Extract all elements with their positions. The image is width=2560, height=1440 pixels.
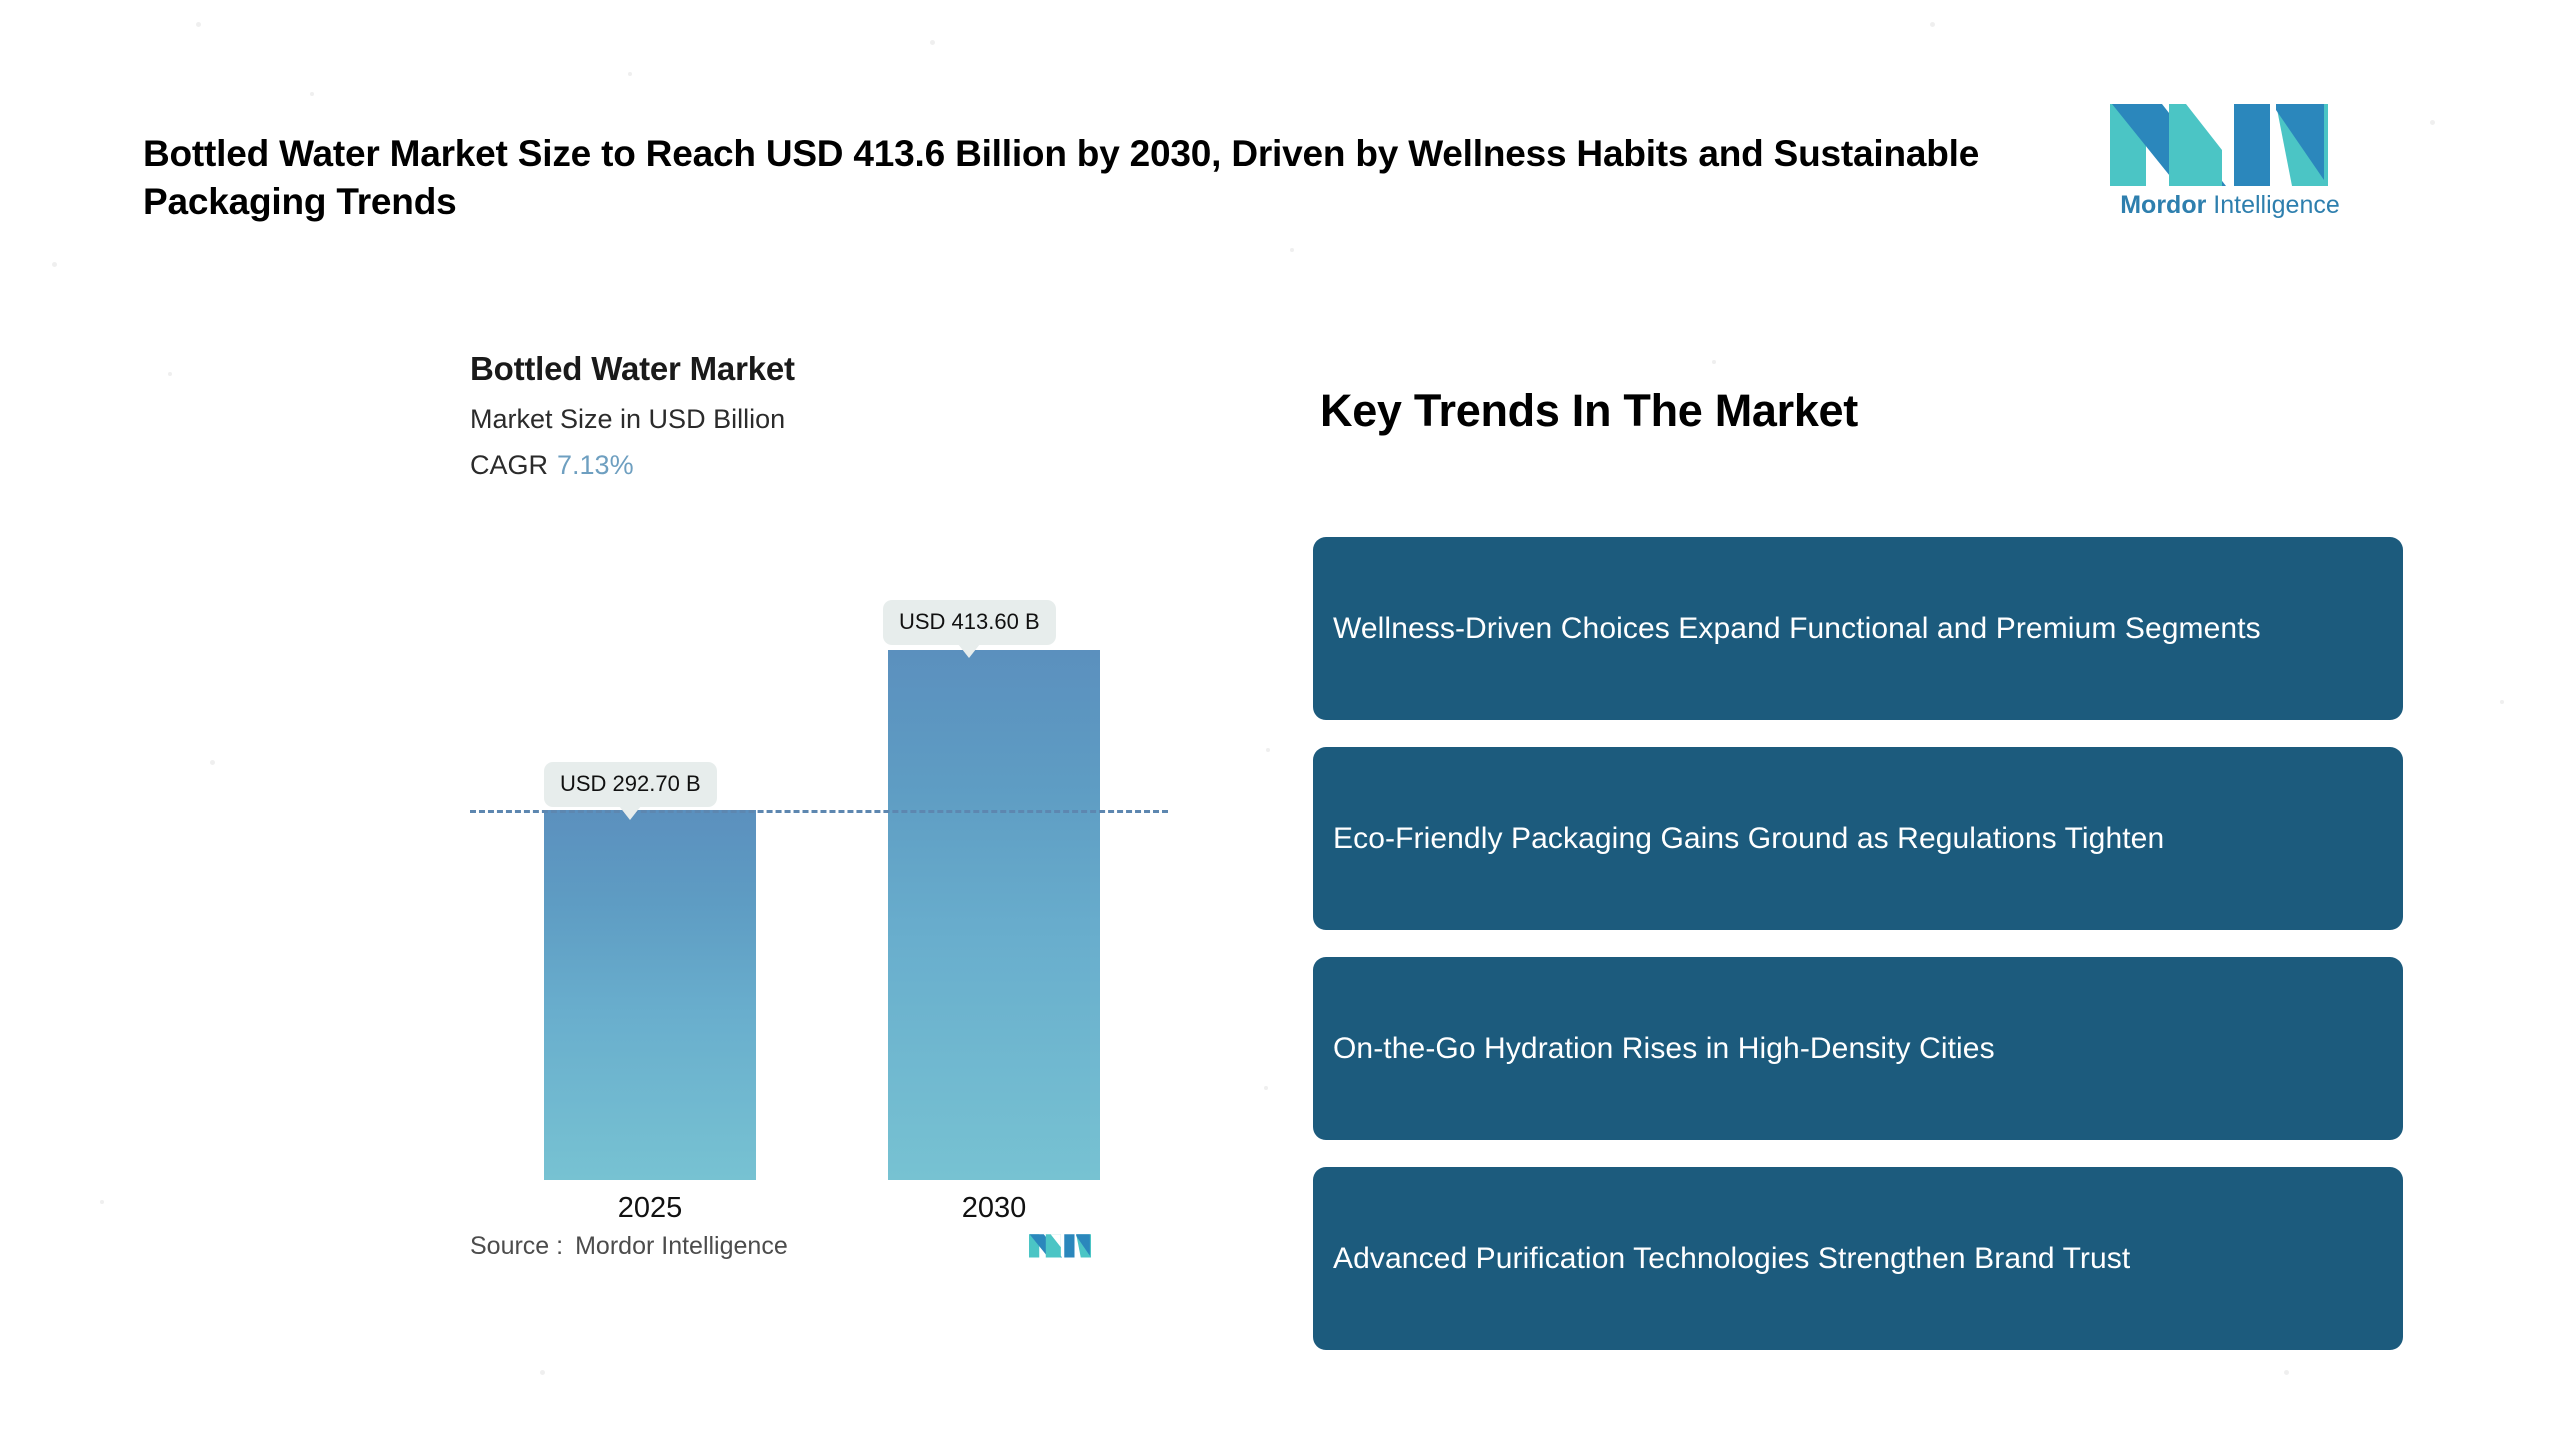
background-speckle xyxy=(1264,1086,1268,1090)
trend-card[interactable]: Wellness-Driven Choices Expand Functiona… xyxy=(1313,537,2403,720)
source-line: Source :Mordor Intelligence xyxy=(470,1232,788,1261)
trend-card-text: Wellness-Driven Choices Expand Functiona… xyxy=(1333,608,2261,649)
key-trends-panel: Key Trends In The Market Wellness-Driven… xyxy=(1300,0,2470,1440)
background-speckle xyxy=(1290,248,1294,252)
x-axis-tick-2030: 2030 xyxy=(888,1192,1100,1225)
cagr-value: 7.13% xyxy=(557,450,634,480)
bar-2025[interactable] xyxy=(544,810,756,1180)
bar-2030[interactable] xyxy=(888,650,1100,1180)
key-trends-list: Wellness-Driven Choices Expand Functiona… xyxy=(1313,537,2403,1377)
key-trends-heading: Key Trends In The Market xyxy=(1320,385,1858,437)
trend-card-text: On-the-Go Hydration Rises in High-Densit… xyxy=(1333,1028,1995,1069)
trend-card[interactable]: Advanced Purification Technologies Stren… xyxy=(1313,1167,2403,1350)
background-speckle xyxy=(1266,748,1270,752)
x-axis-tick-2025: 2025 xyxy=(544,1192,756,1225)
trend-card[interactable]: On-the-Go Hydration Rises in High-Densit… xyxy=(1313,957,2403,1140)
chart-title: Bottled Water Market xyxy=(470,350,795,388)
trend-card-text: Advanced Purification Technologies Stren… xyxy=(1333,1238,2130,1279)
trend-card-text: Eco-Friendly Packaging Gains Ground as R… xyxy=(1333,818,2164,859)
bar-chart-plot-area: USD 292.70 B USD 413.60 B 2025 2030 xyxy=(440,540,1200,1180)
chart-cagr: CAGR7.13% xyxy=(470,450,634,481)
source-value: Mordor Intelligence xyxy=(575,1232,788,1260)
bar-value-label-2025: USD 292.70 B xyxy=(544,762,717,807)
chart-subtitle: Market Size in USD Billion xyxy=(470,404,785,435)
trend-card[interactable]: Eco-Friendly Packaging Gains Ground as R… xyxy=(1313,747,2403,930)
source-label: Source : xyxy=(470,1232,563,1260)
infographic-page: Bottled Water Market Size to Reach USD 4… xyxy=(0,0,2560,1440)
reference-dashed-line xyxy=(470,810,1168,813)
cagr-label: CAGR xyxy=(470,450,548,480)
mordor-intelligence-logo-icon xyxy=(1029,1227,1091,1263)
chart-panel: Bottled Water Market Market Size in USD … xyxy=(0,0,1260,1440)
background-speckle xyxy=(2500,700,2504,704)
bar-value-label-2030: USD 413.60 B xyxy=(883,600,1056,645)
